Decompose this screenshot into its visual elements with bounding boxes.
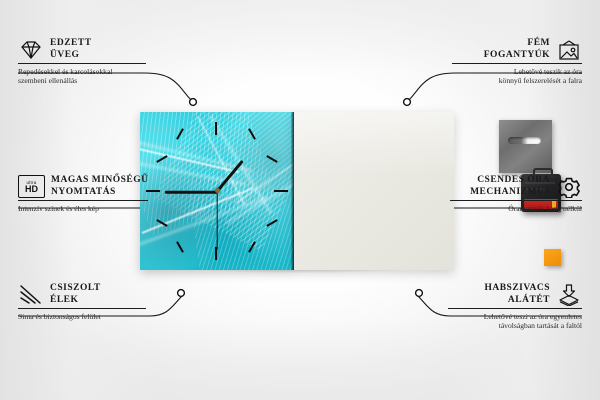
callout-subtitle-2: szembeni ellenállás bbox=[18, 76, 168, 86]
callout-title-2: MECHANIZMUS bbox=[470, 187, 550, 199]
callout-tempered-glass: EDZETT ÜVEG Repedésekkel és karcolásokka… bbox=[18, 38, 168, 86]
hanger-keyhole-slot bbox=[508, 137, 541, 144]
callout-subtitle: Lehetővé teszi az óra egyenletes bbox=[424, 312, 582, 322]
callout-foam-pad: HABSZIVACS ALÁTÉT Lehetővé teszi az óra … bbox=[424, 283, 582, 331]
foam-pad-icon bbox=[556, 284, 582, 306]
callout-title: HABSZIVACS bbox=[484, 283, 550, 295]
foam-spacer-pad bbox=[544, 249, 561, 266]
callout-subtitle-2: távolságban tartását a faltól bbox=[424, 321, 582, 331]
metal-hanger-plate bbox=[499, 120, 552, 173]
clock-second-hand bbox=[216, 192, 217, 250]
gear-icon bbox=[556, 176, 582, 198]
callout-subtitle: Óramutatók hang nélkül bbox=[428, 204, 582, 214]
callout-divider bbox=[18, 63, 146, 64]
callout-title-2: FOGANTYÚK bbox=[484, 50, 550, 62]
callout-title-2: ÜVEG bbox=[50, 50, 92, 62]
callout-polished-edges: CSISZOLT ÉLEK Sima és biztonságos felüle… bbox=[18, 283, 168, 321]
callout-divider bbox=[452, 63, 582, 64]
product-shadow bbox=[150, 268, 450, 282]
callout-title-2: ALÁTÉT bbox=[484, 295, 550, 307]
callout-subtitle: Intenzív színek és éles kép bbox=[18, 204, 178, 214]
callout-silent-mechanism: CSENDES ÓRA MECHANIZMUS Óramutatók hang … bbox=[428, 175, 582, 213]
picture-hanger-icon bbox=[556, 39, 582, 61]
callout-title: EDZETT bbox=[50, 38, 92, 50]
clock-tick bbox=[215, 122, 217, 135]
callout-title: MAGAS MINŐSÉGŰ bbox=[51, 175, 149, 187]
polished-edge-icon bbox=[18, 284, 44, 306]
callout-divider bbox=[450, 200, 582, 201]
product-photo bbox=[140, 112, 454, 270]
callout-divider bbox=[18, 200, 148, 201]
clock-tick bbox=[274, 190, 288, 192]
infographic-canvas: EDZETT ÜVEG Repedésekkel és karcolásokka… bbox=[0, 0, 600, 400]
ultra-hd-icon: ultra HD bbox=[18, 175, 45, 198]
callout-divider bbox=[18, 308, 146, 309]
callout-title-2: NYOMTATÁS bbox=[51, 187, 149, 199]
leader-node-foam-pad bbox=[416, 290, 423, 297]
callout-subtitle-2: könnyű felszerelését a falra bbox=[432, 76, 582, 86]
leader-node-tempered-glass bbox=[190, 99, 197, 106]
callout-subtitle: Lehetővé teszik az óra bbox=[432, 67, 582, 77]
clock-hand-hub bbox=[215, 188, 220, 193]
callout-title-2: ÉLEK bbox=[50, 295, 101, 307]
leader-node-polished-edges bbox=[178, 290, 185, 297]
ultra-hd-hd-label: HD bbox=[25, 185, 38, 194]
leader-node-metal-handles bbox=[404, 99, 411, 106]
callout-title: CSENDES ÓRA bbox=[470, 175, 550, 187]
callout-hd-print: ultra HD MAGAS MINŐSÉGŰ NYOMTATÁS Intenz… bbox=[18, 175, 178, 213]
callout-divider bbox=[448, 308, 582, 309]
callout-title: CSISZOLT bbox=[50, 283, 101, 295]
diamond-icon bbox=[18, 39, 44, 61]
callout-subtitle: Repedésekkel és karcolásokkal bbox=[18, 67, 168, 77]
callout-subtitle: Sima és biztonságos felület bbox=[18, 312, 168, 322]
callout-metal-handles: FÉM FOGANTYÚK Lehetővé teszik az óra kön… bbox=[432, 38, 582, 86]
callout-title: FÉM bbox=[484, 38, 550, 50]
